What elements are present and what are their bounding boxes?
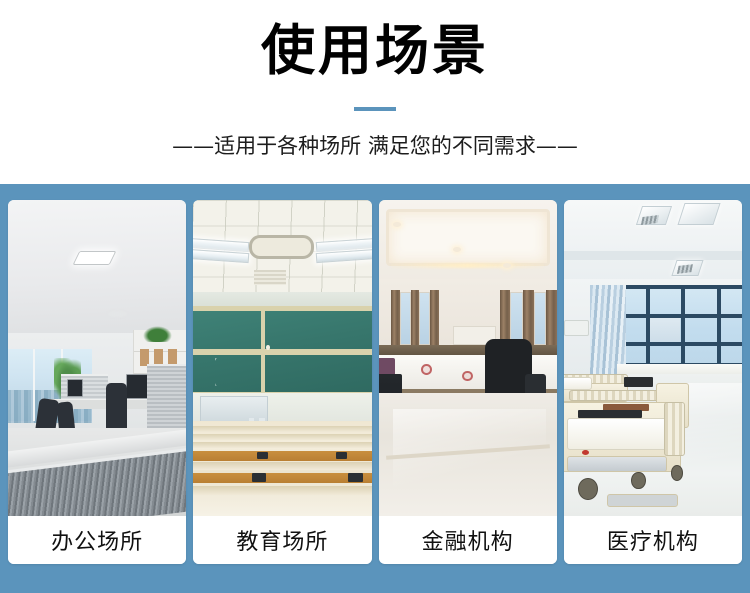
hospital-window-mullion [681, 285, 685, 367]
classroom-desk-fitting [336, 452, 347, 460]
hospital-ceiling-beam [564, 251, 742, 260]
office-ceiling-panel-light-icon [72, 251, 116, 265]
bank-curtain [430, 290, 439, 347]
scene-label-office: 办公场所 [8, 516, 186, 564]
page-title: 使用场景 [261, 24, 489, 78]
classroom-step [193, 442, 371, 448]
bank-cove-ceiling [386, 209, 550, 266]
hospital-bed-caster-icon [631, 472, 645, 489]
hospital-vent-louver [677, 264, 693, 273]
bank-curtain [546, 290, 557, 347]
title-divider [354, 107, 396, 111]
scene-label-medical: 医疗机构 [564, 516, 742, 564]
classroom-chalkboard-divider [261, 306, 265, 398]
hospital-mattress [564, 377, 593, 390]
classroom-step [193, 462, 371, 470]
classroom-step [193, 434, 371, 440]
scene-card-office[interactable]: 办公场所 [8, 200, 186, 564]
classroom-desk-fitting [348, 473, 362, 482]
classroom-chalkboard-rail [193, 349, 371, 356]
hospital-emergency-button-icon[interactable] [582, 450, 589, 455]
hospital-outside-building [646, 317, 680, 345]
classroom-step [193, 426, 371, 432]
scene-photo-education [193, 200, 371, 516]
office-downlight-icon [108, 311, 128, 317]
office-monitor-icon [126, 374, 149, 399]
page-subtitle: ——适用于各种场所 满足您的不同需求—— [172, 136, 578, 157]
classroom-ac-vent-icon [249, 235, 315, 259]
office-shelf-box [140, 349, 149, 366]
classroom-desk-row [193, 473, 371, 482]
scene-photo-office [8, 200, 186, 516]
bank-floor-reflection [393, 409, 546, 516]
classroom-chalk-writing [215, 358, 254, 386]
office-window-mullion [33, 349, 35, 422]
scene-photo-medical [564, 200, 742, 516]
office-ceiling [8, 200, 186, 345]
bank-window [400, 292, 411, 346]
bank-window [510, 292, 522, 346]
hospital-bed-caster-icon [578, 478, 598, 500]
office-shelf-box [154, 349, 163, 366]
bank-curtain [391, 290, 400, 347]
hospital-window-mullion [717, 285, 721, 367]
hospital-window-mullion [646, 285, 650, 367]
hospital-mattress [567, 418, 667, 450]
classroom-desk-fitting [257, 452, 268, 460]
hospital-bed-frame [567, 456, 667, 472]
page-header: 使用场景 ——适用于各种场所 满足您的不同需求—— [0, 0, 750, 184]
classroom-podium [200, 396, 268, 424]
classroom-desk-fitting [252, 473, 266, 482]
scene-photo-finance [379, 200, 557, 516]
scene-label-education: 教育场所 [193, 516, 371, 564]
bank-downlight-icon [393, 222, 401, 227]
classroom-step [193, 486, 371, 495]
scene-card-education[interactable]: 教育场所 [193, 200, 371, 564]
bank-cove-light [391, 263, 544, 268]
bank-curtain [411, 290, 420, 347]
scene-card-medical[interactable]: 医疗机构 [564, 200, 742, 564]
classroom-projector-icon [254, 270, 286, 286]
hospital-bed-control-panel [624, 377, 653, 387]
hospital-window-mullion [621, 314, 742, 318]
hospital-wall-fixture [564, 320, 589, 336]
scene-label-finance: 金融机构 [379, 516, 557, 564]
scene-card-list: 办公场所 [0, 184, 750, 593]
bank-window [534, 292, 546, 346]
hospital-bed-side-rail [664, 402, 685, 456]
scenes-band: 办公场所 [0, 184, 750, 593]
hospital-window-mullion [621, 342, 742, 346]
hospital-privacy-curtain [590, 285, 626, 373]
scene-card-finance[interactable]: 金融机构 [379, 200, 557, 564]
office-chair-icon [106, 383, 127, 430]
office-shelf-plant-icon [143, 326, 172, 342]
bank-window [419, 292, 430, 346]
office-shelf-box [168, 349, 177, 366]
bank-counter-emblem-icon [421, 364, 432, 375]
office-monitor-icon [67, 379, 83, 398]
hospital-floor-mat [607, 494, 678, 507]
